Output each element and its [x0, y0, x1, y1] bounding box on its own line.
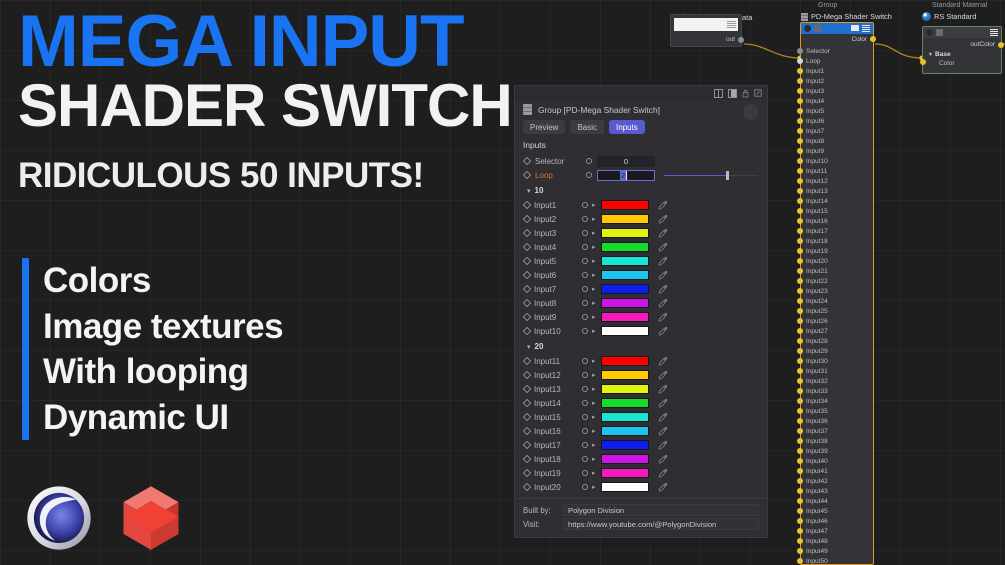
- input-circle-icon[interactable]: [582, 414, 588, 420]
- port-dot[interactable]: [797, 308, 803, 314]
- port-label: Input46: [806, 518, 828, 525]
- folder-icon[interactable]: [851, 25, 859, 31]
- output-label: outColor: [970, 41, 995, 48]
- node-port-row[interactable]: Input19: [801, 246, 873, 256]
- color-swatch[interactable]: [601, 426, 649, 436]
- chevron-right-icon[interactable]: ▸: [592, 483, 597, 491]
- chevron-right-icon[interactable]: ▸: [592, 455, 597, 463]
- port-dot[interactable]: [797, 478, 803, 484]
- chevron-right-icon[interactable]: ▸: [592, 357, 597, 365]
- color-swatch[interactable]: [601, 256, 649, 266]
- node-port-row[interactable]: Input27: [801, 326, 873, 336]
- chevron-right-icon[interactable]: ▸: [592, 313, 597, 321]
- chevron-right-icon[interactable]: ▸: [592, 327, 597, 335]
- input-circle-icon[interactable]: [582, 202, 588, 208]
- port-label: Input32: [806, 378, 828, 385]
- input-circle-icon[interactable]: [582, 272, 588, 278]
- node-port-row[interactable]: Input4: [801, 96, 873, 106]
- port-label: Input28: [806, 338, 828, 345]
- color-swatch[interactable]: [601, 468, 649, 478]
- port-label: Input42: [806, 478, 828, 485]
- port-dot[interactable]: [797, 58, 803, 64]
- color-swatch[interactable]: [601, 284, 649, 294]
- input-label: Input15: [534, 413, 578, 422]
- node-port-row[interactable]: Input40: [801, 456, 873, 466]
- color-swatch[interactable]: [601, 312, 649, 322]
- port-dot[interactable]: [797, 168, 803, 174]
- material-output-row: outColor: [923, 38, 1001, 48]
- port-label: Input2: [806, 78, 824, 85]
- node-port-row[interactable]: Input17: [801, 226, 873, 236]
- list-lines-icon: [727, 21, 736, 28]
- port-label: Input38: [806, 438, 828, 445]
- color-swatch[interactable]: [601, 482, 649, 492]
- node-port-row[interactable]: Input3: [801, 86, 873, 96]
- port-dot[interactable]: [797, 498, 803, 504]
- port-dot[interactable]: [797, 268, 803, 274]
- keyframe-diamond-icon[interactable]: [523, 257, 531, 265]
- port-label: Input16: [806, 218, 828, 225]
- input-circle-icon[interactable]: [582, 386, 588, 392]
- param-label: Loop: [535, 171, 581, 180]
- node-port-row[interactable]: Selector: [801, 46, 873, 56]
- keyframe-diamond-icon[interactable]: [523, 299, 531, 307]
- port-dot[interactable]: [797, 118, 803, 124]
- port-dot[interactable]: [797, 198, 803, 204]
- keyframe-diamond-icon[interactable]: [523, 327, 531, 335]
- node-port-row[interactable]: Loop: [801, 56, 873, 66]
- color-swatch[interactable]: [601, 270, 649, 280]
- material-section-base[interactable]: ▾ Base: [923, 48, 1001, 58]
- input-label: Input4: [534, 243, 578, 252]
- feature-item: Image textures: [43, 304, 283, 350]
- color-swatch[interactable]: [601, 370, 649, 380]
- port-label: Input20: [806, 258, 828, 265]
- port-dot[interactable]: [797, 468, 803, 474]
- input-label: Input18: [534, 455, 578, 464]
- node-port-row[interactable]: Input28: [801, 336, 873, 346]
- group-icon: [801, 13, 808, 21]
- chevron-right-icon[interactable]: ▸: [592, 271, 597, 279]
- input-label: Input7: [534, 285, 578, 294]
- node-port-row[interactable]: Input36: [801, 416, 873, 426]
- node-port-row[interactable]: Input24: [801, 296, 873, 306]
- port-label: Input24: [806, 298, 828, 305]
- node-port-row[interactable]: Input44: [801, 496, 873, 506]
- dialog-title: Group [PD-Mega Shader Switch]: [538, 105, 660, 115]
- port-label: Input23: [806, 288, 828, 295]
- material-color-port[interactable]: Color: [923, 60, 1001, 67]
- input-circle-icon[interactable]: [582, 442, 588, 448]
- port-label: Input3: [806, 88, 824, 95]
- port-dot[interactable]: [797, 418, 803, 424]
- chevron-right-icon[interactable]: ▸: [592, 229, 597, 237]
- keyframe-diamond-icon[interactable]: [523, 469, 531, 477]
- port-dot[interactable]: [797, 98, 803, 104]
- port-dot[interactable]: [797, 78, 803, 84]
- clock-icon[interactable]: [804, 25, 811, 32]
- menu-icon[interactable]: [990, 29, 998, 36]
- output-label: out: [726, 36, 735, 43]
- input-label: Input8: [534, 299, 578, 308]
- keyframe-diamond-icon[interactable]: [523, 385, 531, 393]
- clock-icon[interactable]: [926, 29, 933, 36]
- port-dot[interactable]: [797, 48, 803, 54]
- port-dot[interactable]: [797, 428, 803, 434]
- color-swatch[interactable]: [601, 242, 649, 252]
- port-label: Input17: [806, 228, 828, 235]
- port-dot[interactable]: [797, 148, 803, 154]
- port-dot[interactable]: [797, 248, 803, 254]
- input-circle-icon[interactable]: [582, 372, 588, 378]
- color-swatch[interactable]: [601, 398, 649, 408]
- port-dot[interactable]: [797, 528, 803, 534]
- port-label: Input13: [806, 188, 828, 195]
- port-label: Input9: [806, 148, 824, 155]
- node-port-row[interactable]: Input37: [801, 426, 873, 436]
- chevron-right-icon[interactable]: ▸: [592, 399, 597, 407]
- port-label: Input33: [806, 388, 828, 395]
- keyframe-diamond-icon[interactable]: [523, 427, 531, 435]
- keyframe-diamond-icon[interactable]: [523, 201, 531, 209]
- port-dot[interactable]: [797, 178, 803, 184]
- color-swatch[interactable]: [601, 214, 649, 224]
- input-label: Input13: [534, 385, 578, 394]
- port-dot[interactable]: [797, 508, 803, 514]
- port-dot[interactable]: [797, 158, 803, 164]
- port-dot[interactable]: [797, 388, 803, 394]
- port-dot[interactable]: [797, 108, 803, 114]
- port-label: Input48: [806, 538, 828, 545]
- node-port-row[interactable]: Input42: [801, 476, 873, 486]
- param-label: Selector: [535, 157, 581, 166]
- port-dot[interactable]: [797, 88, 803, 94]
- promo-title-block: MEGA INPUT SHADER SWITCH RIDICULOUS 50 I…: [18, 8, 518, 193]
- param-circle-icon[interactable]: [586, 172, 592, 178]
- color-swatch[interactable]: [601, 384, 649, 394]
- port-label: Input31: [806, 368, 828, 375]
- port-label: Input44: [806, 498, 828, 505]
- node-port-row[interactable]: Input22: [801, 276, 873, 286]
- keyframe-diamond-icon[interactable]: [523, 243, 531, 251]
- group-icon: [523, 104, 532, 115]
- node-port-row[interactable]: Input21: [801, 266, 873, 276]
- port-dot[interactable]: [797, 438, 803, 444]
- port-dot[interactable]: [797, 68, 803, 74]
- node-title-material: RS Standard: [934, 12, 976, 21]
- port-dot[interactable]: [797, 538, 803, 544]
- input-circle-icon[interactable]: [582, 358, 588, 364]
- port-dot[interactable]: [797, 188, 803, 194]
- input-label: Input17: [534, 441, 578, 450]
- node-port-row[interactable]: Input30: [801, 356, 873, 366]
- node-port-row[interactable]: Input12: [801, 176, 873, 186]
- port-dot[interactable]: [797, 288, 803, 294]
- chevron-down-icon: ▾: [929, 51, 932, 58]
- chevron-right-icon[interactable]: ▸: [592, 285, 597, 293]
- loop-value-selected: 2: [620, 171, 627, 180]
- feature-accent-bar: [22, 258, 29, 440]
- node-port-row[interactable]: Input29: [801, 346, 873, 356]
- color-swatch[interactable]: [601, 440, 649, 450]
- node-port-row[interactable]: Input14: [801, 196, 873, 206]
- port-label: Input14: [806, 198, 828, 205]
- chevron-right-icon[interactable]: ▸: [592, 299, 597, 307]
- save-icon[interactable]: [814, 25, 821, 32]
- integer-value-field[interactable]: [674, 18, 738, 31]
- input-circle-icon[interactable]: [582, 456, 588, 462]
- chevron-right-icon[interactable]: ▸: [592, 469, 597, 477]
- node-port-row[interactable]: Input11: [801, 166, 873, 176]
- port-label: Input43: [806, 488, 828, 495]
- keyframe-diamond-icon[interactable]: [523, 285, 531, 293]
- node-port-row[interactable]: Input9: [801, 146, 873, 156]
- port-label: Input39: [806, 448, 828, 455]
- node-port-row[interactable]: Input48: [801, 536, 873, 546]
- feature-list: Colors Image textures With looping Dynam…: [22, 258, 283, 440]
- node-port-row[interactable]: Input35: [801, 406, 873, 416]
- input-label: Input3: [534, 229, 578, 238]
- node-subtitle-material: RS Standard: [922, 12, 976, 21]
- port-label: Input45: [806, 508, 828, 515]
- node-port-row[interactable]: Input10: [801, 156, 873, 166]
- keyframe-diamond-icon[interactable]: [523, 399, 531, 407]
- keyframe-diamond-icon[interactable]: [523, 157, 531, 165]
- port-dot[interactable]: [797, 448, 803, 454]
- port-label: Input25: [806, 308, 828, 315]
- input-circle-icon[interactable]: [582, 258, 588, 264]
- tab-inputs[interactable]: Inputs: [609, 120, 645, 134]
- port-dot[interactable]: [797, 128, 803, 134]
- input-circle-icon[interactable]: [582, 328, 588, 334]
- param-circle-icon[interactable]: [586, 158, 592, 164]
- port-label: Input6: [806, 118, 824, 125]
- input-label: Input2: [534, 215, 578, 224]
- port-dot[interactable]: [797, 338, 803, 344]
- output-port[interactable]: [870, 36, 876, 42]
- port-dot[interactable]: [797, 138, 803, 144]
- port-label: Input35: [806, 408, 828, 415]
- node-port-row[interactable]: Input18: [801, 236, 873, 246]
- port-dot[interactable]: [797, 378, 803, 384]
- port-dot[interactable]: [797, 488, 803, 494]
- port-label: Input40: [806, 458, 828, 465]
- rs-material-icon: [922, 12, 931, 21]
- keyframe-diamond-icon[interactable]: [523, 271, 531, 279]
- port-dot[interactable]: [797, 458, 803, 464]
- node-port-row[interactable]: Input1: [801, 66, 873, 76]
- input-circle-icon[interactable]: [582, 314, 588, 320]
- node-port-row[interactable]: Input15: [801, 206, 873, 216]
- footer-label: Visit:: [523, 520, 563, 529]
- port-dot[interactable]: [797, 398, 803, 404]
- node-port-row[interactable]: Input50: [801, 556, 873, 565]
- input-circle-icon[interactable]: [582, 400, 588, 406]
- node-port-row[interactable]: Input45: [801, 506, 873, 516]
- node-port-row[interactable]: Input34: [801, 396, 873, 406]
- port-label: Input15: [806, 208, 828, 215]
- node-port-row[interactable]: Input5: [801, 106, 873, 116]
- port-label: Input1: [806, 68, 824, 75]
- input-label: Input16: [534, 427, 578, 436]
- keyframe-diamond-icon[interactable]: [523, 313, 531, 321]
- output-port[interactable]: [738, 37, 744, 43]
- promo-subtitle: RIDICULOUS 50 INPUTS!: [18, 158, 518, 193]
- material-color-input-port[interactable]: [920, 59, 926, 65]
- node-port-row[interactable]: Input32: [801, 376, 873, 386]
- cinema4d-logo: [26, 485, 92, 551]
- keyframe-diamond-icon[interactable]: [523, 357, 531, 365]
- node-port-row[interactable]: Input43: [801, 486, 873, 496]
- chevron-right-icon[interactable]: ▸: [592, 243, 597, 251]
- node-mega-shader-switch[interactable]: Color SelectorLoopInput1Input2Input3Inpu…: [800, 22, 874, 565]
- port-dot[interactable]: [797, 408, 803, 414]
- node-port-row[interactable]: Input25: [801, 306, 873, 316]
- output-label: Color: [851, 36, 867, 43]
- port-dot[interactable]: [797, 318, 803, 324]
- chevron-right-icon[interactable]: ▸: [592, 385, 597, 393]
- input-label: Input5: [534, 257, 578, 266]
- input-circle-icon[interactable]: [582, 244, 588, 250]
- node-port-row[interactable]: Input20: [801, 256, 873, 266]
- keyframe-diamond-icon[interactable]: [523, 441, 531, 449]
- port-label: Input4: [806, 98, 824, 105]
- port-label: Input36: [806, 418, 828, 425]
- group-label: 10: [535, 186, 544, 195]
- input-label: Input10: [534, 327, 578, 336]
- port-dot[interactable]: [797, 298, 803, 304]
- port-dot[interactable]: [797, 548, 803, 554]
- color-swatch[interactable]: [601, 298, 649, 308]
- input-label: Input12: [534, 371, 578, 380]
- loop-input[interactable]: 2: [597, 170, 655, 181]
- input-circle-icon[interactable]: [582, 428, 588, 434]
- keyframe-diamond-icon[interactable]: [523, 455, 531, 463]
- port-dot[interactable]: [797, 228, 803, 234]
- node-port-row[interactable]: Input2: [801, 76, 873, 86]
- color-swatch[interactable]: [601, 228, 649, 238]
- input-circle-icon[interactable]: [582, 484, 588, 490]
- node-port-row[interactable]: Input31: [801, 366, 873, 376]
- chevron-right-icon[interactable]: ▸: [592, 201, 597, 209]
- node-port-row[interactable]: Input47: [801, 526, 873, 536]
- screenshot-root: MEGA INPUT SHADER SWITCH RIDICULOUS 50 I…: [0, 0, 1005, 565]
- save-icon[interactable]: [936, 29, 943, 36]
- keyframe-diamond-icon[interactable]: [523, 171, 531, 179]
- input-circle-icon[interactable]: [582, 286, 588, 292]
- node-rs-standard[interactable]: outColor ▾ Base Color: [922, 26, 1002, 74]
- keyframe-diamond-icon[interactable]: [523, 229, 531, 237]
- port-dot[interactable]: [797, 258, 803, 264]
- port-dot[interactable]: [797, 328, 803, 334]
- port-label: Input8: [806, 138, 824, 145]
- port-dot[interactable]: [797, 368, 803, 374]
- node-port-row[interactable]: Input13: [801, 186, 873, 196]
- port-dot[interactable]: [797, 238, 803, 244]
- group-output-color-row: Color: [801, 34, 873, 44]
- node-port-row[interactable]: Input39: [801, 446, 873, 456]
- tab-preview[interactable]: Preview: [523, 120, 565, 134]
- port-label: Input30: [806, 358, 828, 365]
- node-editor: Integer User Data out Group PD-Mega Shad…: [660, 0, 1005, 565]
- port-label: Input21: [806, 268, 828, 275]
- chevron-right-icon[interactable]: ▸: [592, 427, 597, 435]
- node-integer-user-data[interactable]: out: [670, 14, 742, 47]
- chevron-right-icon[interactable]: ▸: [592, 215, 597, 223]
- node-subtitle-group: PD-Mega Shader Switch: [801, 12, 892, 21]
- color-swatch[interactable]: [601, 200, 649, 210]
- port-label: Input50: [806, 558, 828, 565]
- chevron-right-icon[interactable]: ▸: [592, 413, 597, 421]
- node-port-row[interactable]: Input33: [801, 386, 873, 396]
- color-swatch[interactable]: [601, 454, 649, 464]
- node-caption-material: Standard Material: [932, 2, 987, 9]
- color-swatch[interactable]: [601, 326, 649, 336]
- input-label: Input9: [534, 313, 578, 322]
- node-port-row[interactable]: Input49: [801, 546, 873, 556]
- color-swatch[interactable]: [601, 412, 649, 422]
- port-dot[interactable]: [797, 218, 803, 224]
- keyframe-diamond-icon[interactable]: [523, 483, 531, 491]
- menu-icon[interactable]: [862, 25, 870, 32]
- port-dot[interactable]: [797, 208, 803, 214]
- tab-basic[interactable]: Basic: [570, 120, 604, 134]
- keyframe-diamond-icon[interactable]: [523, 371, 531, 379]
- output-port[interactable]: [998, 42, 1004, 48]
- input-circle-icon[interactable]: [582, 230, 588, 236]
- node-port-row[interactable]: Input41: [801, 466, 873, 476]
- node-port-row[interactable]: Input7: [801, 126, 873, 136]
- port-label: Input49: [806, 548, 828, 555]
- input-circle-icon[interactable]: [582, 300, 588, 306]
- feature-item: Colors: [43, 258, 283, 304]
- feature-item: Dynamic UI: [43, 395, 283, 441]
- chevron-right-icon[interactable]: ▸: [592, 371, 597, 379]
- input-circle-icon[interactable]: [582, 216, 588, 222]
- port-label: Input34: [806, 398, 828, 405]
- keyframe-diamond-icon[interactable]: [523, 413, 531, 421]
- node-output-row: out: [671, 34, 741, 46]
- logo-row: [26, 485, 182, 551]
- input-circle-icon[interactable]: [582, 470, 588, 476]
- color-swatch[interactable]: [601, 356, 649, 366]
- chevron-right-icon[interactable]: ▸: [592, 257, 597, 265]
- port-dot[interactable]: [797, 278, 803, 284]
- port-dot[interactable]: [797, 558, 803, 564]
- node-port-row[interactable]: Input26: [801, 316, 873, 326]
- chevron-down-icon: ▾: [527, 343, 531, 351]
- port-dot[interactable]: [797, 348, 803, 354]
- selector-input[interactable]: 0: [597, 156, 655, 167]
- node-port-row[interactable]: Input6: [801, 116, 873, 126]
- port-dot[interactable]: [797, 358, 803, 364]
- input-label: Input14: [534, 399, 578, 408]
- input-label: Input19: [534, 469, 578, 478]
- node-port-row[interactable]: Input46: [801, 516, 873, 526]
- node-port-row[interactable]: Input38: [801, 436, 873, 446]
- port-label: Input27: [806, 328, 828, 335]
- chevron-right-icon[interactable]: ▸: [592, 441, 597, 449]
- promo-title-line1: MEGA INPUT: [18, 8, 518, 75]
- input-label: Input6: [534, 271, 578, 280]
- keyframe-diamond-icon[interactable]: [523, 215, 531, 223]
- port-dot[interactable]: [797, 518, 803, 524]
- node-title-group: PD-Mega Shader Switch: [811, 12, 892, 21]
- node-port-row[interactable]: Input23: [801, 286, 873, 296]
- node-port-row[interactable]: Input8: [801, 136, 873, 146]
- node-port-row[interactable]: Input16: [801, 216, 873, 226]
- section-label: Base: [935, 51, 951, 58]
